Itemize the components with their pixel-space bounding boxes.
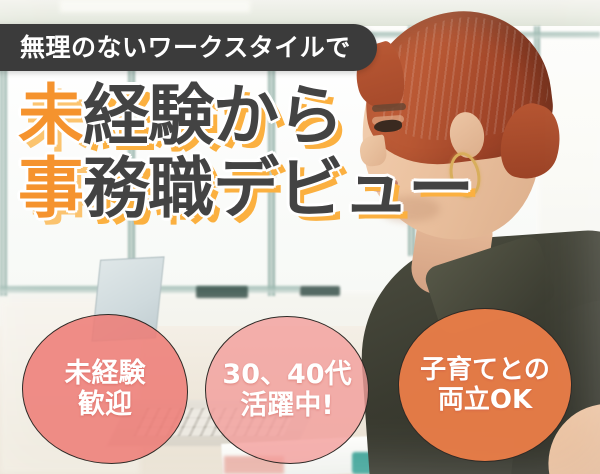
headline: 未経験から 事務職デビュー: [18, 84, 488, 231]
badge-line-1: 子育てとの: [420, 355, 550, 385]
badge-30s-40s-active[interactable]: 30、40代 活躍中!: [205, 316, 369, 464]
badge-childcare-compatible[interactable]: 子育てとの 両立OK: [398, 308, 572, 462]
badge-group: 未経験 歓迎 30、40代 活躍中! 子育てとの 両立OK: [0, 300, 600, 460]
headline-line-1: 未経験から: [18, 84, 488, 147]
headline-accent-char-1: 未: [18, 84, 83, 147]
recruitment-banner: 無理のないワークスタイルで 未経験から 事務職デビュー 未経験 歓迎 30、40…: [0, 0, 600, 474]
badge-line-1: 未経験: [65, 358, 146, 389]
headline-rest-2: 務職デビュー: [83, 157, 473, 220]
top-ribbon-text: 無理のないワークスタイルで: [20, 35, 351, 60]
desk-object: [196, 286, 248, 298]
badge-line-2: 歓迎: [78, 389, 132, 420]
headline-accent-char-2: 事: [18, 157, 83, 220]
badge-line-1: 30、40代: [222, 359, 351, 390]
badge-line-2: 両立OK: [438, 385, 532, 415]
window-mullion: [0, 34, 7, 296]
headline-line-2: 事務職デビュー: [18, 157, 488, 220]
top-ribbon: 無理のないワークスタイルで: [0, 24, 377, 71]
ceiling-light-panel: [60, 0, 250, 12]
badge-inexperienced-welcome[interactable]: 未経験 歓迎: [22, 314, 188, 464]
badge-line-2: 活躍中!: [240, 390, 333, 421]
headline-rest-1: 経験から: [83, 84, 343, 147]
